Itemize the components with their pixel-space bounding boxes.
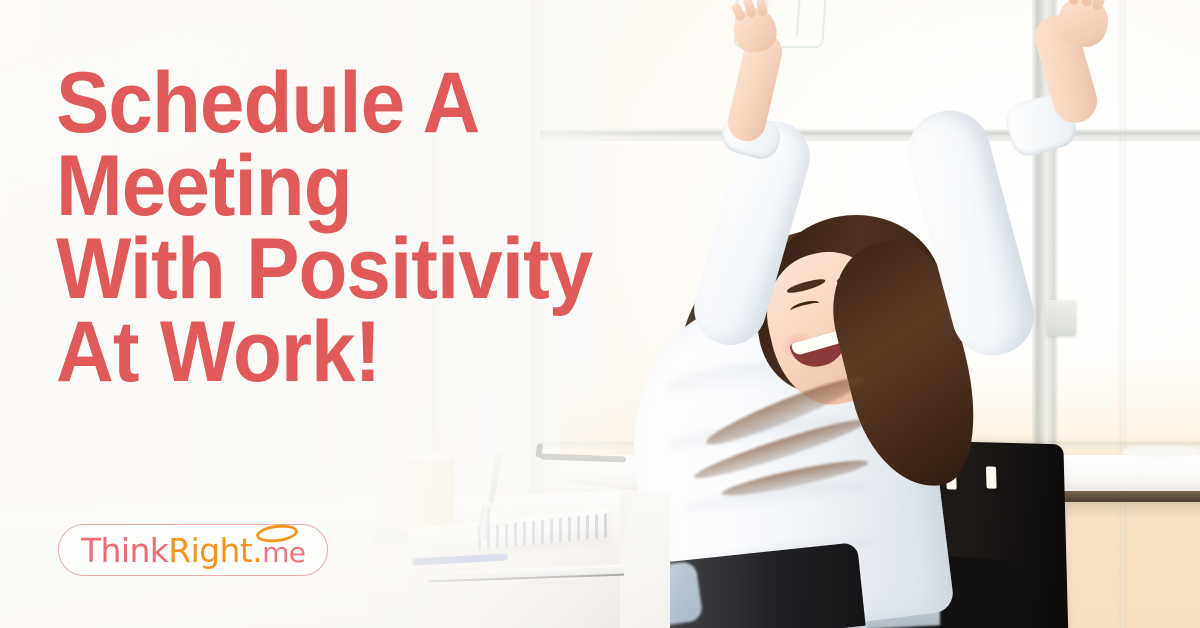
headline: Schedule A Meeting With Positivity At Wo… bbox=[56, 62, 688, 394]
finger bbox=[1091, 0, 1108, 11]
banner-image: Schedule A Meeting With Positivity At Wo… bbox=[0, 0, 1200, 628]
coffee-mug bbox=[392, 456, 454, 532]
logo-think-text: Think bbox=[81, 531, 168, 570]
logo-right-text: Right bbox=[168, 531, 252, 570]
logo-wordmark: ThinkRight.me bbox=[81, 534, 305, 567]
thinkright-me-logo[interactable]: ThinkRight.me bbox=[58, 524, 328, 576]
chair-slot bbox=[986, 466, 997, 488]
finger bbox=[1068, 0, 1080, 5]
finger bbox=[756, 0, 767, 17]
